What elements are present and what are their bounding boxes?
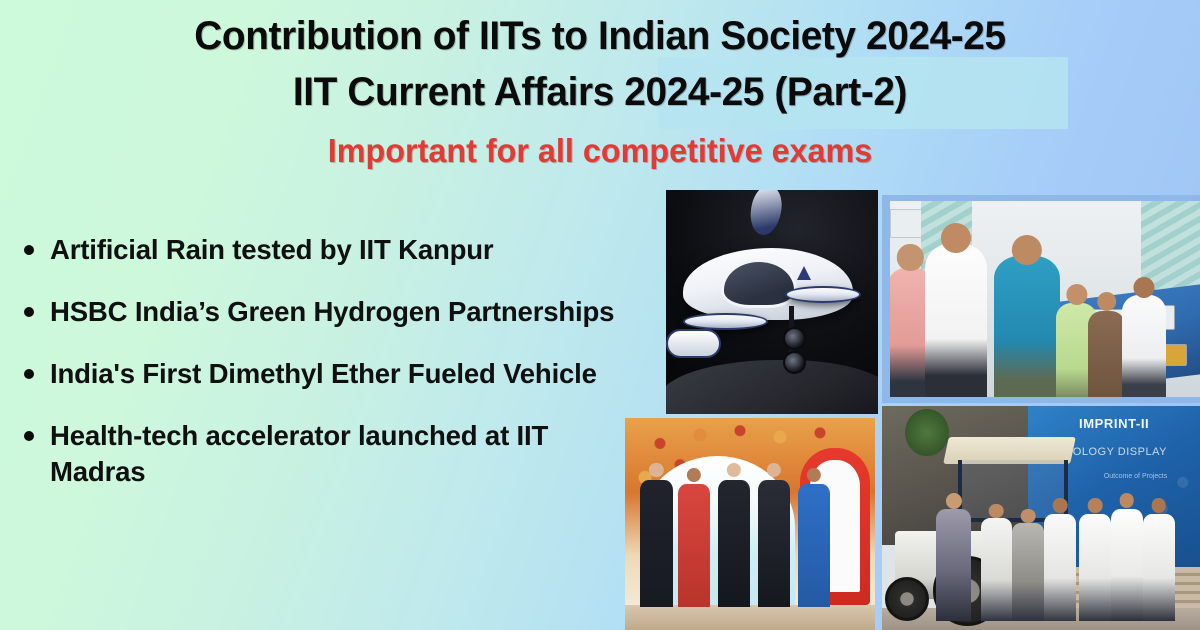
- person-head: [1097, 292, 1117, 312]
- person-head: [1120, 493, 1135, 508]
- team-person: [936, 509, 971, 621]
- team-person: [1044, 514, 1076, 622]
- tree-foliage: [905, 409, 949, 456]
- bullet-dot-icon: [24, 369, 34, 379]
- list-item: Artificial Rain tested by IIT Kanpur: [24, 232, 624, 268]
- bullet-dot-icon: [24, 431, 34, 441]
- bullet-dot-icon: [24, 307, 34, 317]
- team-person: [1012, 523, 1044, 622]
- poster-canvas: Contribution of IITs to Indian Society 2…: [0, 0, 1200, 630]
- person-head: [1151, 498, 1166, 513]
- team-person: [1143, 514, 1175, 622]
- lab-scene: [890, 201, 1200, 397]
- dignitary-person: [718, 480, 751, 607]
- dignitary-person: [678, 484, 711, 607]
- team-person: [1111, 509, 1143, 621]
- dignitary-person: [758, 480, 791, 607]
- drone-logo-icon: [797, 266, 811, 280]
- tractor-imprint-photo: IMPRINT-II …OLOGY DISPLAY Outcome of Pro…: [882, 406, 1200, 630]
- person-head: [1134, 277, 1155, 298]
- page-subtitle: Important for all competitive exams: [12, 130, 1188, 172]
- person-head: [945, 493, 961, 509]
- list-item-label: Artificial Rain tested by IIT Kanpur: [50, 232, 493, 268]
- person-head: [897, 244, 923, 270]
- page-title-line-2: IIT Current Affairs 2024-25 (Part-2): [18, 68, 1182, 116]
- drone-wheel: [783, 327, 806, 350]
- list-item: India's First Dimethyl Ether Fueled Vehi…: [24, 356, 624, 392]
- lab-person: [925, 244, 988, 397]
- floor-strip: [625, 605, 875, 630]
- drone-rotor-left: [683, 313, 768, 330]
- list-item: HSBC India’s Green Hydrogen Partnerships: [24, 294, 624, 330]
- page-title-line-1: Contribution of IITs to Indian Society 2…: [18, 12, 1182, 60]
- list-item-label: Health-tech accelerator launched at IIT …: [50, 418, 615, 490]
- person-head: [1011, 235, 1041, 265]
- bullet-dot-icon: [24, 245, 34, 255]
- drone-wheel: [783, 351, 806, 374]
- list-item: Health-tech accelerator launched at IIT …: [24, 418, 624, 490]
- air-taxi-drone-photo: [666, 190, 878, 414]
- key-points-list: Artificial Rain tested by IIT Kanpur HSB…: [24, 232, 624, 516]
- list-item-label: HSBC India’s Green Hydrogen Partnerships: [50, 294, 614, 330]
- tractor-frame: [958, 460, 1068, 522]
- dignitary-person: [798, 484, 831, 607]
- lab-person: [1122, 295, 1166, 397]
- person-head: [989, 504, 1004, 519]
- lab-person: [1088, 311, 1126, 397]
- banner-title: IMPRINT-II: [1028, 416, 1200, 431]
- lab-person: [994, 256, 1060, 397]
- dignitaries-group-photo: [625, 418, 875, 630]
- dignitary-person: [640, 480, 673, 607]
- person-head: [941, 223, 971, 253]
- person-head: [1021, 509, 1036, 524]
- person-head: [1088, 498, 1103, 513]
- person-head: [1053, 498, 1068, 513]
- drone-side-pod: [666, 329, 721, 358]
- banner-note: Outcome of Projects: [1104, 472, 1200, 482]
- list-item-label: India's First Dimethyl Ether Fueled Vehi…: [50, 356, 597, 392]
- lab-exhibition-photo: [882, 195, 1200, 403]
- team-person: [981, 518, 1013, 621]
- team-person: [1079, 514, 1111, 622]
